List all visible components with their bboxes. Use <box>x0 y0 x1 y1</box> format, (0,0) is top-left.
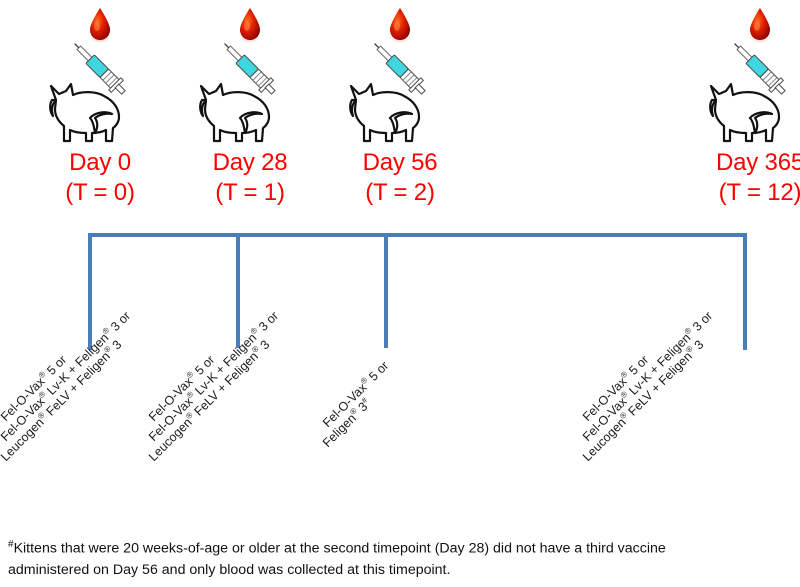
footnote-line-1: Kittens that were 20 weeks-of-age or old… <box>14 541 666 557</box>
timepoint-icons-4 <box>685 0 800 150</box>
footnote-line-2: administered on Day 56 and only blood wa… <box>8 560 792 581</box>
cat-icon <box>40 78 132 150</box>
timepoint-icons-2 <box>175 0 325 150</box>
vaccine-label-group-4: Fel-O-Vax® 5 or Fel-O-Vax® Lv-K + Felige… <box>590 380 800 500</box>
cat-icon <box>340 78 432 150</box>
day-label-4: Day 365 <box>716 149 800 176</box>
day-label-3: Day 56 <box>363 149 438 176</box>
timepoint-label-1: Day 0 (T = 0) <box>25 148 175 208</box>
timepoint-label-4: Day 365 (T = 12) <box>685 148 800 208</box>
timepoint-column-4: Day 365 (T = 12) <box>685 0 800 225</box>
t-label-4: (T = 12) <box>685 178 800 208</box>
timepoint-column-1: Day 0 (T = 0) <box>25 0 175 225</box>
cat-icon <box>700 78 792 150</box>
t-label-2: (T = 1) <box>175 178 325 208</box>
day-label-2: Day 28 <box>213 149 288 176</box>
timepoint-label-3: Day 56 (T = 2) <box>325 148 475 208</box>
study-timeline-figure: Day 0 (T = 0) <box>0 0 800 587</box>
timepoint-column-2: Day 28 (T = 1) <box>175 0 325 225</box>
day-label-1: Day 0 <box>69 149 131 176</box>
timepoint-column-3: Day 56 (T = 2) <box>325 0 475 225</box>
timepoint-icons-3 <box>325 0 475 150</box>
cat-icon <box>190 78 282 150</box>
t-label-1: (T = 0) <box>25 178 175 208</box>
timepoint-icons-1 <box>25 0 175 150</box>
vaccine-label-group-3: Fel-O-Vax® 5 or Feligen® 3# <box>330 380 510 480</box>
timepoint-label-2: Day 28 (T = 1) <box>175 148 325 208</box>
footnote: #Kittens that were 20 weeks-of-age or ol… <box>8 534 792 581</box>
t-label-3: (T = 2) <box>325 178 475 208</box>
